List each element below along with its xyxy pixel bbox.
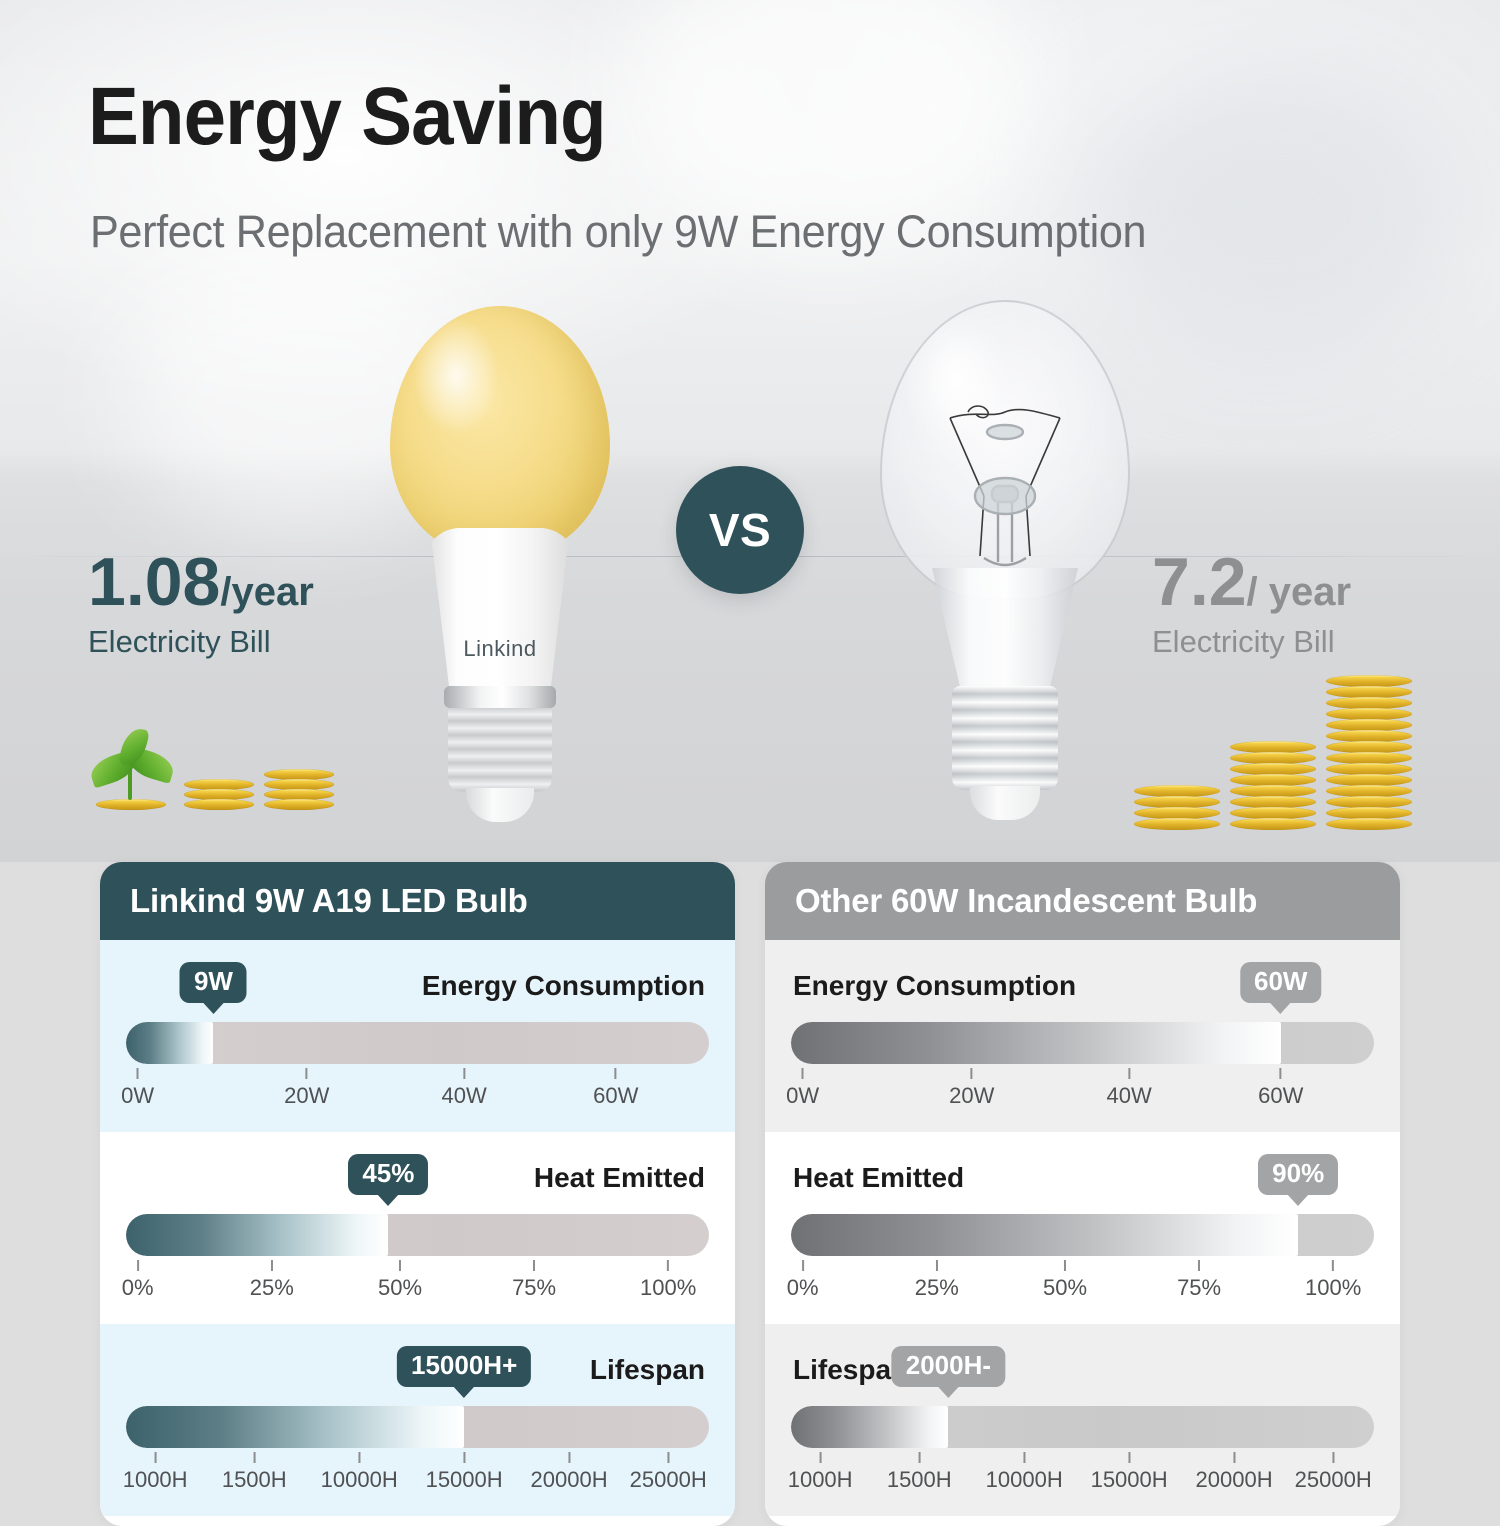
metric-value-badge: 90% (1258, 1154, 1338, 1195)
metric-track (791, 1406, 1374, 1448)
axis-tick-label: 25% (915, 1275, 959, 1301)
led-bulb-globe (390, 306, 610, 556)
axis-tick-mark (615, 1068, 617, 1079)
metric-value-badge: 15000H+ (397, 1346, 531, 1387)
axis-tick-mark (271, 1260, 273, 1271)
axis-tick-mark (667, 1452, 669, 1463)
vs-badge: VS (676, 466, 804, 594)
incandescent-coin-stacks (1134, 676, 1412, 830)
axis-tick-label: 0W (121, 1083, 154, 1109)
axis-tick-mark (667, 1260, 669, 1271)
axis-tick-label: 50% (378, 1275, 422, 1301)
axis-tick-label: 60W (1258, 1083, 1303, 1109)
axis-tick-label: 25% (250, 1275, 294, 1301)
incandescent-bulb-image (880, 300, 1130, 840)
led-coin-stacks (88, 726, 334, 810)
metric-value-text: 15000H+ (411, 1350, 517, 1380)
axis-tick-label: 10000H (321, 1467, 398, 1493)
axis-tick-label: 0W (786, 1083, 819, 1109)
axis-tick-label: 10000H (986, 1467, 1063, 1493)
led-bill-caption: Electricity Bill (88, 624, 314, 660)
comparison-panel-other: Other 60W Incandescent BulbEnergy Consum… (765, 862, 1400, 1526)
axis-tick: 50% (378, 1260, 422, 1301)
axis-tick: 1500H (222, 1452, 287, 1493)
metric-label: Heat Emitted (793, 1162, 964, 1194)
metric-fill (791, 1022, 1281, 1064)
axis-tick: 10000H (986, 1452, 1063, 1493)
axis-tick-mark (1233, 1452, 1235, 1463)
metric-value-badge: 9W (180, 962, 247, 1003)
incandescent-bulb-neck (932, 568, 1078, 692)
axis-tick: 60W (1258, 1068, 1303, 1109)
metric-row-energy-consumption: Energy Consumption9W0W20W40W60W (100, 940, 735, 1132)
axis-tick-mark (971, 1068, 973, 1079)
axis-tick: 75% (512, 1260, 556, 1301)
axis-tick-label: 50% (1043, 1275, 1087, 1301)
metric-header: Heat Emitted45% (126, 1154, 709, 1214)
metric-header: Lifespan15000H+ (126, 1346, 709, 1406)
metric-fill (791, 1406, 948, 1448)
metric-label: Energy Consumption (793, 970, 1076, 1002)
panel-body-linkind: Energy Consumption9W0W20W40W60WHeat Emit… (100, 940, 735, 1526)
coin-stack (264, 770, 334, 810)
axis-tick: 20W (284, 1068, 329, 1109)
axis-tick-label: 0% (787, 1275, 819, 1301)
axis-tick-mark (1332, 1260, 1334, 1271)
axis-tick-label: 1500H (887, 1467, 952, 1493)
coin-icon (1326, 818, 1412, 830)
axis-tick: 15000H (1091, 1452, 1168, 1493)
page-subtitle: Perfect Replacement with only 9W Energy … (90, 206, 1146, 258)
led-bill-period: /year (220, 570, 313, 614)
coin-stack (88, 726, 174, 810)
axis-tick-label: 100% (640, 1275, 696, 1301)
axis-tick-mark (1198, 1260, 1200, 1271)
metric-row-energy-consumption: Energy Consumption60W0W20W40W60W (765, 940, 1400, 1132)
incandescent-bulb-base-tip (970, 786, 1040, 820)
metric-fill (126, 1022, 213, 1064)
incandescent-bill-period: / year (1247, 570, 1352, 614)
metric-value-badge: 60W (1240, 962, 1321, 1003)
axis-tick: 1500H (887, 1452, 952, 1493)
axis-tick-mark (1280, 1068, 1282, 1079)
metric-track (126, 1214, 709, 1256)
incandescent-electricity-stat: 7.2/ year Electricity Bill (1152, 548, 1351, 660)
metric-track (126, 1022, 709, 1064)
metric-header: Lifespan2000H- (791, 1346, 1374, 1406)
panel-heading-other: Other 60W Incandescent Bulb (765, 862, 1400, 940)
axis-tick-mark (819, 1452, 821, 1463)
metric-axis: 1000H1500H10000H15000H20000H25000H (791, 1452, 1374, 1498)
coin-stack (1230, 742, 1316, 830)
axis-tick-mark (154, 1452, 156, 1463)
incandescent-bill-caption: Electricity Bill (1152, 624, 1351, 660)
axis-tick-mark (802, 1260, 804, 1271)
axis-tick-mark (137, 1260, 139, 1271)
coin-stack (1326, 676, 1412, 830)
metric-track (791, 1022, 1374, 1064)
metric-value-badge: 2000H- (892, 1346, 1005, 1387)
led-bulb-brand-label: Linkind (424, 636, 576, 662)
page-title: Energy Saving (88, 76, 606, 158)
axis-tick: 0% (787, 1260, 819, 1301)
axis-tick: 100% (640, 1260, 696, 1301)
metric-row-lifespan: Lifespan2000H-1000H1500H10000H15000H2000… (765, 1324, 1400, 1516)
coin-icon (1134, 818, 1220, 830)
axis-tick-label: 20W (284, 1083, 329, 1109)
panel-body-other: Energy Consumption60W0W20W40W60WHeat Emi… (765, 940, 1400, 1526)
axis-tick-mark (399, 1260, 401, 1271)
plant-sprout-icon (88, 726, 174, 800)
axis-tick: 50% (1043, 1260, 1087, 1301)
axis-tick: 1000H (788, 1452, 853, 1493)
coin-icon (184, 799, 254, 810)
metric-track (791, 1214, 1374, 1256)
metric-header: Energy Consumption60W (791, 962, 1374, 1022)
axis-tick: 25000H (630, 1452, 707, 1493)
axis-tick-mark (1064, 1260, 1066, 1271)
led-bulb-neck (424, 528, 576, 706)
metric-label: Lifespan (590, 1354, 705, 1386)
comparison-panel-linkind: Linkind 9W A19 LED BulbEnergy Consumptio… (100, 862, 735, 1526)
comparison-panels: Linkind 9W A19 LED BulbEnergy Consumptio… (0, 862, 1500, 1500)
metric-header: Energy Consumption9W (126, 962, 709, 1022)
axis-tick: 20000H (1196, 1452, 1273, 1493)
axis-tick: 25000H (1295, 1452, 1372, 1493)
coin-stack (1134, 786, 1220, 830)
metric-value-text: 60W (1254, 966, 1307, 996)
axis-tick-mark (463, 1452, 465, 1463)
axis-tick: 0W (121, 1068, 154, 1109)
axis-tick-mark (358, 1452, 360, 1463)
axis-tick: 25% (250, 1260, 294, 1301)
axis-tick-label: 1500H (222, 1467, 287, 1493)
filament-icon (880, 300, 1130, 610)
axis-tick-mark (306, 1068, 308, 1079)
axis-tick-label: 20W (949, 1083, 994, 1109)
led-bulb-screw-base (448, 700, 552, 792)
metric-value-text: 2000H- (906, 1350, 991, 1380)
axis-tick: 1000H (123, 1452, 188, 1493)
axis-tick: 0% (122, 1260, 154, 1301)
axis-tick-mark (1332, 1452, 1334, 1463)
coin-stack (184, 780, 254, 810)
axis-tick-label: 25000H (1295, 1467, 1372, 1493)
axis-tick: 10000H (321, 1452, 398, 1493)
metric-header: Heat Emitted90% (791, 1154, 1374, 1214)
axis-tick: 40W (442, 1068, 487, 1109)
axis-tick-label: 15000H (426, 1467, 503, 1493)
axis-tick: 25% (915, 1260, 959, 1301)
axis-tick-label: 100% (1305, 1275, 1361, 1301)
axis-tick: 40W (1107, 1068, 1152, 1109)
axis-tick-label: 20000H (1196, 1467, 1273, 1493)
metric-axis: 1000H1500H10000H15000H20000H25000H (126, 1452, 709, 1498)
axis-tick: 100% (1305, 1260, 1361, 1301)
axis-tick-mark (253, 1452, 255, 1463)
axis-tick-label: 75% (1177, 1275, 1221, 1301)
axis-tick-label: 15000H (1091, 1467, 1168, 1493)
coin-icon (1230, 818, 1316, 830)
metric-value-badge: 45% (348, 1154, 428, 1195)
metric-fill (126, 1214, 388, 1256)
axis-tick-label: 40W (1107, 1083, 1152, 1109)
axis-tick-mark (1128, 1068, 1130, 1079)
axis-tick-mark (936, 1260, 938, 1271)
axis-tick-label: 75% (512, 1275, 556, 1301)
metric-axis: 0W20W40W60W (791, 1068, 1374, 1114)
axis-tick-label: 1000H (788, 1467, 853, 1493)
axis-tick-label: 60W (593, 1083, 638, 1109)
led-bill-amount: 1.08 (88, 544, 220, 620)
led-electricity-stat: 1.08/year Electricity Bill (88, 548, 314, 660)
axis-tick-label: 0% (122, 1275, 154, 1301)
metric-label: Heat Emitted (534, 1162, 705, 1194)
incandescent-bulb-screw-base (952, 686, 1058, 790)
metric-axis: 0%25%50%75%100% (791, 1260, 1374, 1306)
axis-tick: 0W (786, 1068, 819, 1109)
axis-tick-mark (802, 1068, 804, 1079)
axis-tick-label: 25000H (630, 1467, 707, 1493)
axis-tick: 20000H (531, 1452, 608, 1493)
metric-fill (791, 1214, 1298, 1256)
metric-row-lifespan: Lifespan15000H+1000H1500H10000H15000H200… (100, 1324, 735, 1516)
metric-value-text: 45% (362, 1158, 414, 1188)
coin-icon (264, 799, 334, 810)
panel-heading-linkind: Linkind 9W A19 LED Bulb (100, 862, 735, 940)
led-bulb-base-tip (466, 788, 534, 822)
led-bulb-image: Linkind (390, 306, 610, 836)
axis-tick-label: 40W (442, 1083, 487, 1109)
metric-axis: 0%25%50%75%100% (126, 1260, 709, 1306)
axis-tick-mark (137, 1068, 139, 1079)
axis-tick-mark (568, 1452, 570, 1463)
axis-tick: 75% (1177, 1260, 1221, 1301)
axis-tick-label: 1000H (123, 1467, 188, 1493)
axis-tick-mark (463, 1068, 465, 1079)
axis-tick-label: 20000H (531, 1467, 608, 1493)
metric-value-text: 9W (194, 966, 233, 996)
metric-row-heat-emitted: Heat Emitted90%0%25%50%75%100% (765, 1132, 1400, 1324)
metric-value-text: 90% (1272, 1158, 1324, 1188)
axis-tick: 20W (949, 1068, 994, 1109)
metric-row-heat-emitted: Heat Emitted45%0%25%50%75%100% (100, 1132, 735, 1324)
metric-track (126, 1406, 709, 1448)
axis-tick: 60W (593, 1068, 638, 1109)
axis-tick: 15000H (426, 1452, 503, 1493)
metric-fill (126, 1406, 464, 1448)
metric-label: Energy Consumption (422, 970, 705, 1002)
coin-icon (96, 799, 166, 810)
metric-axis: 0W20W40W60W (126, 1068, 709, 1114)
axis-tick-mark (918, 1452, 920, 1463)
axis-tick-mark (1128, 1452, 1130, 1463)
axis-tick-mark (533, 1260, 535, 1271)
axis-tick-mark (1023, 1452, 1025, 1463)
incandescent-bill-amount: 7.2 (1152, 544, 1247, 620)
